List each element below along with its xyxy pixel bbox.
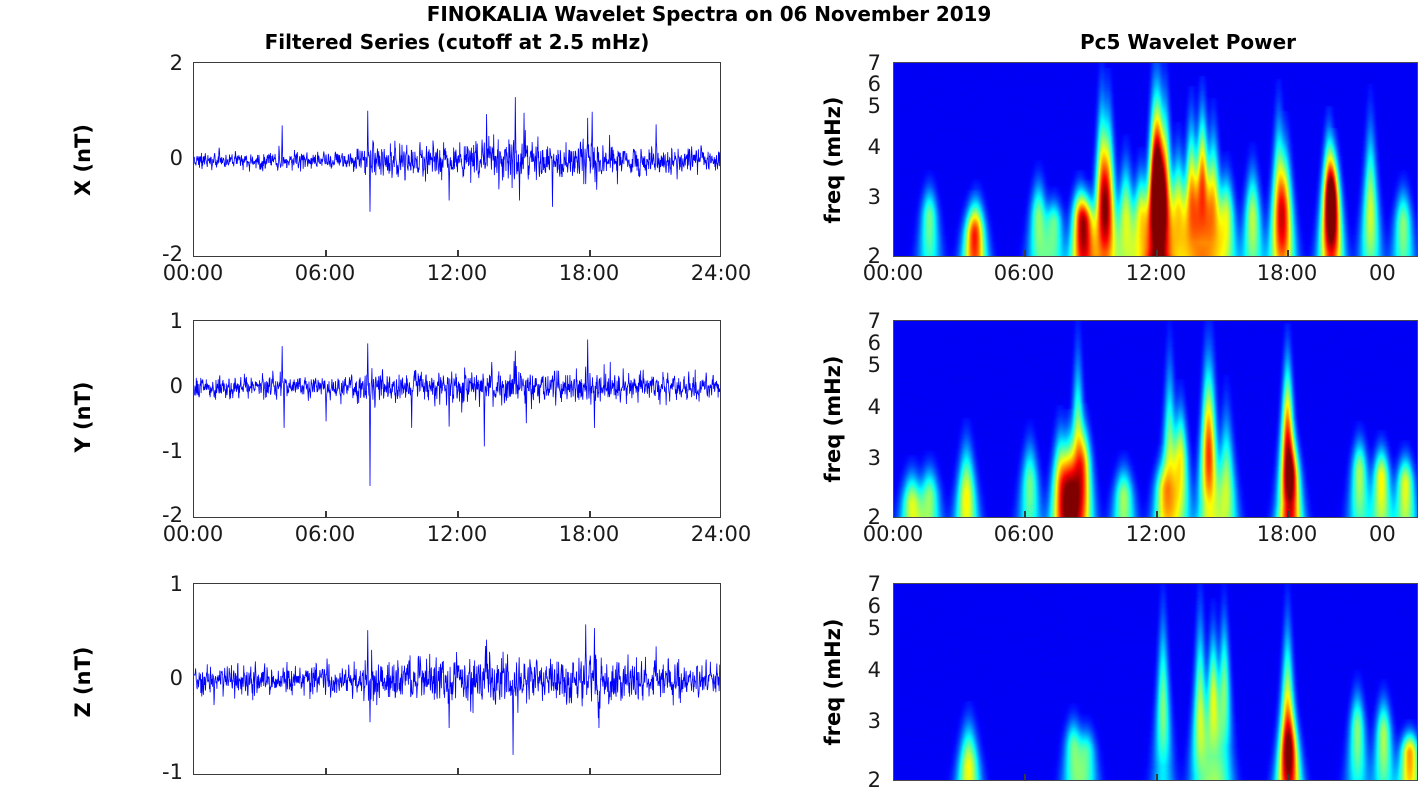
axes-x-wavelet: [893, 62, 1418, 257]
x-tickmark: [1287, 774, 1289, 781]
x-tick-label: 06:00: [974, 261, 1074, 285]
x-tickmark: [589, 768, 591, 775]
x-tickmark: [325, 250, 327, 257]
x-tick-label: 06:00: [275, 261, 375, 285]
axes-x-series: [193, 62, 721, 257]
y-axis-label-freq-z: freq (mHz): [821, 592, 845, 772]
axes-y-wavelet: [893, 320, 1418, 518]
y-tick-label: 7: [848, 572, 881, 596]
x-tick-label: 06:00: [275, 522, 375, 546]
y-tick-label: 4: [848, 658, 881, 682]
y-tick-label: 1: [150, 572, 183, 596]
x-tickmark: [1024, 511, 1026, 518]
y-tick-label: 1: [150, 309, 183, 333]
axes-z-series: [193, 583, 721, 775]
y-axis-label-x: X (nT): [71, 70, 95, 250]
x-tickmark: [589, 511, 591, 518]
y-tick-label: 2: [848, 768, 881, 792]
x-tick-label: 18:00: [1237, 261, 1337, 285]
y-tick-label: 0: [150, 374, 183, 398]
x-tick-label: 18:00: [539, 261, 639, 285]
y-tick-label: 3: [848, 446, 881, 470]
y-tick-label: 5: [848, 616, 881, 640]
x-tickmark: [1024, 774, 1026, 781]
x-tick-label: 18:00: [1237, 522, 1337, 546]
y-axis-label-y: Y (nT): [71, 327, 95, 507]
axes-z-wavelet: [893, 583, 1418, 781]
spectrogram-image-y: [894, 321, 1418, 518]
series-trace-y: [194, 321, 721, 518]
x-tickmark: [1287, 250, 1289, 257]
axes-y-series: [193, 320, 721, 518]
x-tick-label: 12:00: [407, 261, 507, 285]
figure-canvas: FINOKALIA Wavelet Spectra on 06 November…: [0, 0, 1418, 788]
x-tickmark: [1156, 774, 1158, 781]
x-tickmark: [325, 768, 327, 775]
x-tick-label: 06:00: [974, 522, 1074, 546]
y-tick-label: 4: [848, 395, 881, 419]
x-tick-label: 00:00: [143, 261, 243, 285]
y-tick-label: 2: [150, 51, 183, 75]
y-tick-label: -1: [142, 760, 183, 784]
x-tickmark: [457, 768, 459, 775]
x-tick-label: 00: [1369, 261, 1418, 285]
y-tick-label: 3: [848, 709, 881, 733]
series-trace-z: [194, 584, 721, 775]
left-column-title: Filtered Series (cutoff at 2.5 mHz): [193, 30, 721, 54]
y-tick-label: 6: [848, 331, 881, 355]
spectrogram-image-z: [894, 584, 1418, 781]
y-tick-label: 6: [848, 594, 881, 618]
y-tick-label: 3: [848, 185, 881, 209]
y-tick-label: 5: [848, 94, 881, 118]
x-tick-label: 00:00: [843, 522, 943, 546]
y-axis-label-freq-y: freq (mHz): [821, 329, 845, 509]
x-tick-label: 18:00: [539, 522, 639, 546]
y-tick-label: 0: [150, 666, 183, 690]
spectrogram-image-x: [894, 63, 1418, 257]
y-tick-label: -1: [142, 439, 183, 463]
y-tick-label: 7: [848, 309, 881, 333]
x-tick-label: 24:00: [671, 522, 771, 546]
right-column-title: Pc5 Wavelet Power: [893, 30, 1418, 54]
x-tick-label: 12:00: [1106, 522, 1206, 546]
y-axis-label-z: Z (nT): [71, 592, 95, 772]
y-axis-label-freq-x: freq (mHz): [821, 70, 845, 250]
x-tickmark: [1156, 250, 1158, 257]
x-tick-label: 12:00: [407, 522, 507, 546]
y-tick-label: 0: [150, 146, 183, 170]
x-tickmark: [457, 250, 459, 257]
x-tick-label: 00:00: [843, 261, 943, 285]
y-tick-label: 4: [848, 135, 881, 159]
x-tick-label: 24:00: [671, 261, 771, 285]
x-tickmark: [1024, 250, 1026, 257]
y-tick-label: 5: [848, 353, 881, 377]
x-tickmark: [325, 511, 327, 518]
x-tickmark: [457, 511, 459, 518]
x-tick-label: 00:00: [143, 522, 243, 546]
x-tick-label: 12:00: [1106, 261, 1206, 285]
figure-suptitle: FINOKALIA Wavelet Spectra on 06 November…: [0, 2, 1418, 26]
y-tick-label: 6: [848, 72, 881, 96]
x-tickmark: [589, 250, 591, 257]
x-tickmark: [1156, 511, 1158, 518]
series-trace-x: [194, 63, 721, 257]
x-tick-label: 00: [1369, 522, 1418, 546]
x-tickmark: [1287, 511, 1289, 518]
